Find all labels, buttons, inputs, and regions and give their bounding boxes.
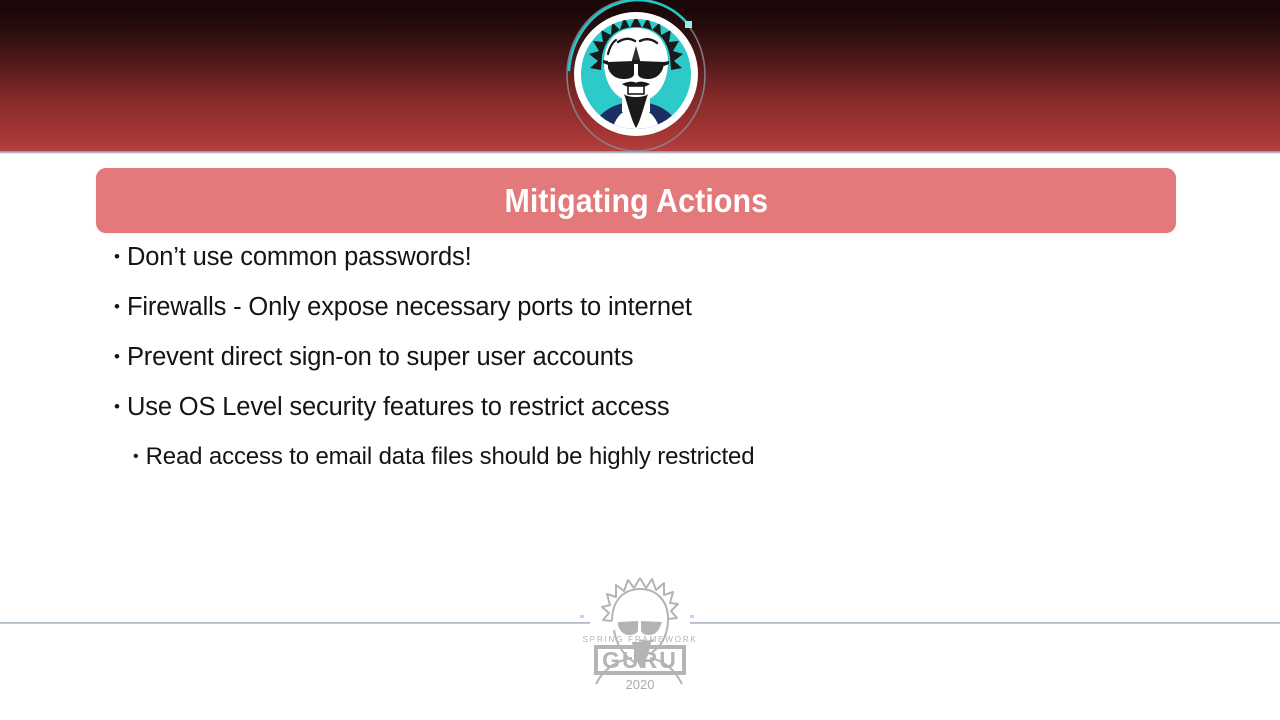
udemy-logo-icon (1208, 696, 1226, 710)
footer-brand-line-1: SPRING FRAMEWORK (583, 635, 698, 644)
bullet-glyph-icon: • (114, 398, 120, 415)
bullet-glyph-icon: • (114, 248, 120, 265)
spring-framework-guru-avatar-icon (558, 0, 714, 151)
list-item-label: Read access to email data files should b… (146, 443, 755, 471)
list-item-label: Prevent direct sign-on to super user acc… (127, 343, 633, 372)
spring-framework-guru-footer-logo: SPRING FRAMEWORK GURU 2020 (578, 572, 702, 698)
footer-brand-line-2: GURU (602, 647, 678, 673)
footer-divider-right (690, 622, 1280, 624)
list-item: • Use OS Level security features to rest… (0, 393, 1280, 443)
slide-header-band (0, 0, 1280, 151)
list-item: • Don’t use common passwords! (0, 243, 1280, 293)
bullet-glyph-icon: • (114, 298, 120, 315)
footer-divider-left (0, 622, 590, 624)
list-item-label: Use OS Level security features to restri… (127, 393, 670, 422)
udemy-watermark: Udemy (1208, 696, 1266, 710)
list-item: • Prevent direct sign-on to super user a… (0, 343, 1280, 393)
udemy-watermark-label: Udemy (1230, 697, 1266, 709)
bullet-glyph-icon: • (114, 348, 120, 365)
list-item-label: Don’t use common passwords! (127, 243, 472, 272)
list-item-label: Firewalls - Only expose necessary ports … (127, 293, 692, 322)
list-item: • Firewalls - Only expose necessary port… (0, 293, 1280, 343)
footer-year: 2020 (626, 677, 655, 692)
page-title: Mitigating Actions (504, 184, 768, 217)
bullet-glyph-icon: • (133, 449, 139, 465)
slide-bullet-list: • Don’t use common passwords! • Firewall… (0, 243, 1280, 493)
slide-title-banner: Mitigating Actions (96, 168, 1176, 233)
header-divider (0, 151, 1280, 154)
list-item-sub: • Read access to email data files should… (0, 443, 1280, 493)
